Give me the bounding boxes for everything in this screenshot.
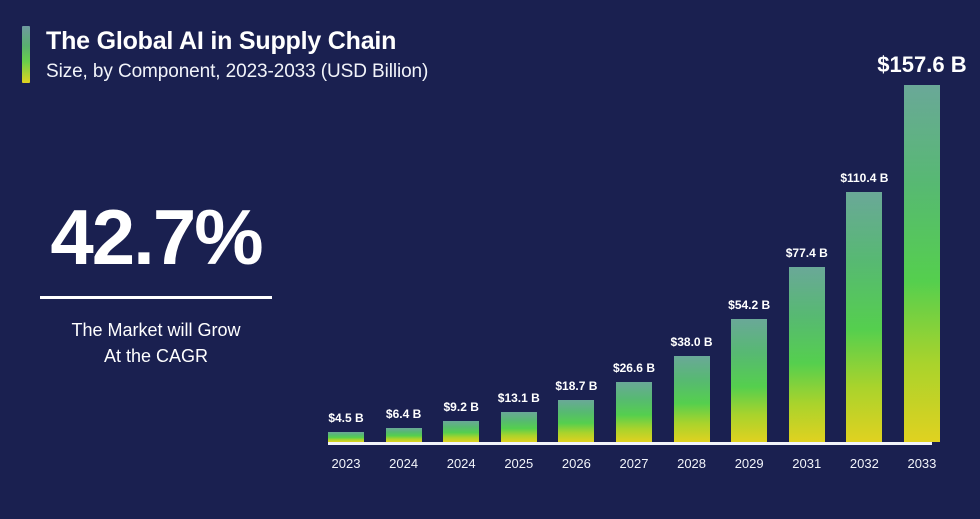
bar[interactable] (328, 432, 364, 442)
bar-chart: $4.5 B$6.4 B$9.2 B$13.1 B$18.7 B$26.6 B$… (328, 60, 940, 490)
bar-value-label: $110.4 B (840, 171, 888, 185)
bar[interactable] (616, 382, 652, 442)
bar-group[interactable]: $18.7 B (558, 60, 594, 442)
x-axis-tick-label: 2023 (328, 456, 364, 471)
bar-group[interactable]: $6.4 B (386, 60, 422, 442)
bar-group[interactable]: $54.2 B (731, 60, 767, 442)
bar-value-label: $18.7 B (555, 379, 597, 393)
bar-value-label: $13.1 B (498, 391, 540, 405)
x-axis-tick-label: 2024 (386, 456, 422, 471)
cagr-caption-line-2: At the CAGR (40, 343, 272, 369)
bar-group[interactable]: $38.0 B (674, 60, 710, 442)
bar-group[interactable]: $9.2 B (443, 60, 479, 442)
bar[interactable] (443, 421, 479, 442)
infographic-root: The Global AI in Supply Chain Size, by C… (0, 0, 980, 519)
bar[interactable] (731, 319, 767, 442)
x-axis-tick-label: 2033 (904, 456, 940, 471)
bar-value-label: $4.5 B (328, 411, 363, 425)
bar-value-label: $54.2 B (728, 298, 770, 312)
bar[interactable] (674, 356, 710, 442)
x-axis-tick-label: 2032 (846, 456, 882, 471)
x-axis-tick-label: 2027 (616, 456, 652, 471)
bar-group[interactable]: $110.4 B (846, 60, 882, 442)
chart-axis-line (328, 442, 932, 445)
bar[interactable] (501, 412, 537, 442)
bar[interactable] (558, 400, 594, 442)
cagr-callout: 42.7% The Market will Grow At the CAGR (40, 200, 272, 369)
bar-value-label: $157.6 B (877, 52, 966, 78)
x-axis-tick-label: 2024 (443, 456, 479, 471)
x-axis-tick-label: 2025 (501, 456, 537, 471)
x-axis-tick-label: 2031 (789, 456, 825, 471)
bar[interactable] (386, 428, 422, 442)
bar[interactable] (846, 192, 882, 442)
x-axis-tick-label: 2028 (674, 456, 710, 471)
bar-value-label: $9.2 B (444, 400, 479, 414)
cagr-divider (40, 296, 272, 299)
bar-group[interactable]: $77.4 B (789, 60, 825, 442)
bar[interactable] (904, 85, 940, 442)
cagr-caption-line-1: The Market will Grow (40, 317, 272, 343)
chart-x-axis-labels: 2023202420242025202620272028202920312032… (328, 456, 940, 471)
x-axis-tick-label: 2026 (558, 456, 594, 471)
bar-value-label: $38.0 B (671, 335, 713, 349)
bar-value-label: $26.6 B (613, 361, 655, 375)
bar-group[interactable]: $13.1 B (501, 60, 537, 442)
accent-bar-icon (22, 26, 30, 83)
cagr-value: 42.7% (40, 200, 272, 274)
bar-value-label: $6.4 B (386, 407, 421, 421)
x-axis-tick-label: 2029 (731, 456, 767, 471)
chart-plot-area: $4.5 B$6.4 B$9.2 B$13.1 B$18.7 B$26.6 B$… (328, 60, 940, 442)
bar-group[interactable]: $157.6 B (904, 60, 940, 442)
bar-group[interactable]: $26.6 B (616, 60, 652, 442)
bar[interactable] (789, 267, 825, 442)
page-title: The Global AI in Supply Chain (46, 26, 428, 57)
bar-group[interactable]: $4.5 B (328, 60, 364, 442)
bar-value-label: $77.4 B (786, 246, 828, 260)
